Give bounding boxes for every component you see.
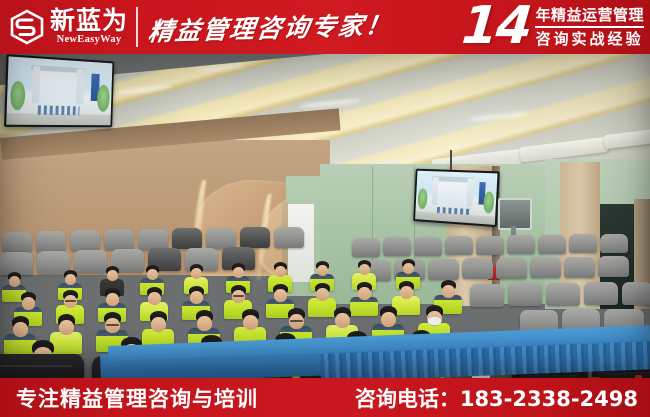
- years-number: 14: [460, 4, 532, 50]
- wall-tv-left: [4, 54, 114, 127]
- header-slogan: 精益管理咨询专家！: [146, 6, 395, 49]
- seat: [138, 229, 168, 250]
- seat: [600, 234, 628, 253]
- logo-english-name: NewEasyWay: [50, 35, 128, 46]
- promo-banner: 新蓝为 NewEasyWay 精益管理咨询专家！ 14 年精益运营管理 咨询实战…: [0, 0, 650, 417]
- footer-bar: 专注精益管理咨询与培训 咨询电话：183-2338-2498: [0, 378, 650, 417]
- seat: [36, 231, 66, 252]
- seat: [70, 230, 100, 251]
- logo[interactable]: 新蓝为 NewEasyWay: [0, 8, 128, 46]
- seat: [507, 235, 535, 254]
- tv-left-people: [38, 106, 80, 115]
- seat: [569, 234, 597, 253]
- seat: [428, 259, 459, 280]
- tv-left-tree-2: [97, 85, 110, 112]
- footer-contact[interactable]: 咨询电话：183-2338-2498: [355, 383, 650, 413]
- header-divider: [136, 7, 138, 47]
- seat: [546, 283, 580, 306]
- tv-left-pillar: [32, 66, 41, 104]
- newEasyWay-logo-mark: [9, 9, 45, 45]
- tv-left-pillar-2: [76, 69, 84, 105]
- tv-left-gate: [36, 68, 79, 107]
- years-line-1: 年精益运营管理: [535, 6, 644, 24]
- footer-phone-label: 咨询电话：: [355, 387, 460, 411]
- seat: [445, 236, 473, 255]
- seat: [538, 235, 566, 254]
- training-photo: [0, 54, 650, 378]
- seat: [462, 258, 493, 279]
- seat: [622, 282, 650, 305]
- years-line-2: 咨询实战经验: [535, 30, 644, 48]
- seat: [564, 257, 595, 278]
- seat: [414, 237, 442, 256]
- tv-left-ground: [6, 113, 111, 125]
- foreground-chair: [0, 354, 84, 378]
- tv-right-pillar-2: [467, 178, 474, 207]
- logo-chinese-name: 新蓝为: [50, 8, 128, 33]
- seat: [104, 229, 134, 250]
- seat: [496, 258, 527, 279]
- seat: [476, 236, 504, 255]
- experience-years-block: 14 年精益运营管理 咨询实战经验: [462, 4, 650, 50]
- tv-right-screen: [415, 171, 497, 225]
- ceiling-tv-right: [413, 169, 500, 227]
- seat: [274, 227, 304, 248]
- seat: [172, 228, 202, 249]
- seat: [352, 238, 380, 257]
- seat: [206, 228, 236, 249]
- tv-right-tree-1: [417, 188, 428, 209]
- seat: [530, 257, 561, 278]
- seat: [383, 237, 411, 256]
- tv-left-tree-1: [10, 81, 26, 110]
- footer-tagline: 专注精益管理咨询与培训: [0, 383, 258, 413]
- seat: [470, 284, 504, 307]
- header-bar: 新蓝为 NewEasyWay 精益管理咨询专家！ 14 年精益运营管理 咨询实战…: [0, 0, 650, 54]
- seat: [2, 232, 32, 252]
- face-mask: [428, 317, 441, 325]
- tv-left-screen: [6, 56, 112, 125]
- seat: [240, 227, 270, 248]
- seat: [508, 283, 542, 306]
- footer-phone-number: 183-2338-2498: [460, 387, 638, 411]
- years-rule: [535, 26, 644, 28]
- seat: [598, 256, 629, 277]
- tv-right-tree-2: [483, 191, 495, 213]
- tv-right-gate: [436, 178, 469, 209]
- seat: [584, 282, 618, 305]
